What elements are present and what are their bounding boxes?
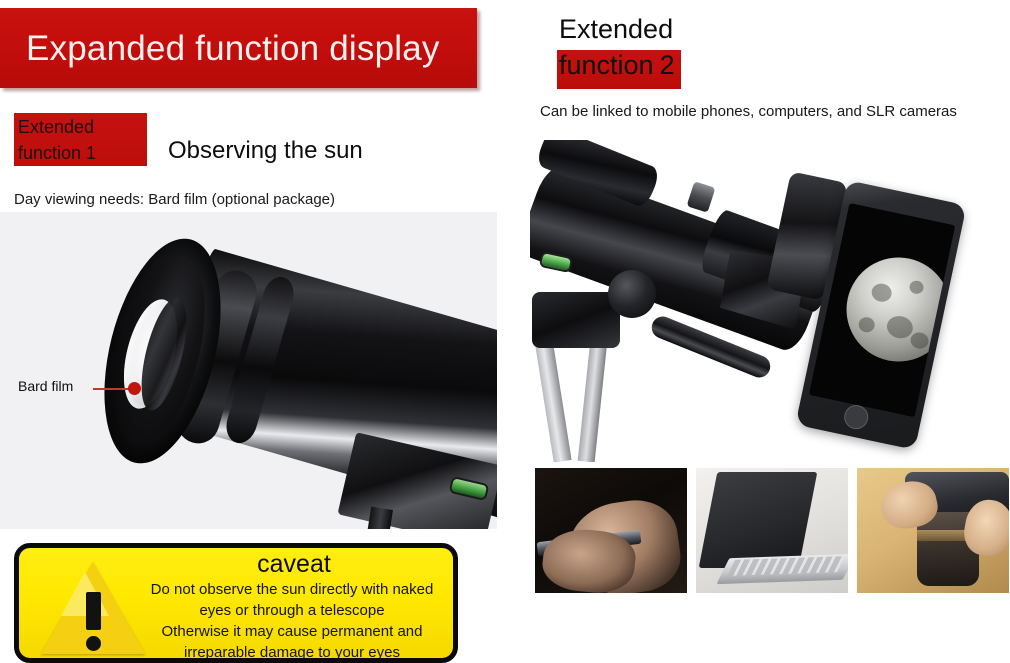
moon-crater xyxy=(857,316,876,334)
linked-devices-caption: Can be linked to mobile phones, computer… xyxy=(540,103,957,120)
page-title: Expanded function display xyxy=(0,31,440,66)
caveat-title: caveat xyxy=(129,550,458,579)
observing-the-sun-heading: Observing the sun xyxy=(168,137,363,165)
thumbnail-mobile-phone xyxy=(535,468,687,593)
title-banner: Expanded function display xyxy=(0,8,477,88)
bard-film-callout-label: Bard film xyxy=(18,378,73,394)
extended-function-2-line1: Extended xyxy=(559,14,673,45)
tripod-leg-left xyxy=(534,337,571,462)
moon-crater xyxy=(870,282,893,304)
tripod-leg-right xyxy=(578,339,608,462)
moon-crater xyxy=(909,331,930,350)
thumbnail-slr-camera xyxy=(857,468,1009,593)
focus-knob-top xyxy=(687,181,716,213)
moon-crater xyxy=(908,279,924,295)
extended-function-2-number: 2 xyxy=(654,50,675,80)
moon-image xyxy=(837,248,955,371)
extended-function-1-badge-label: Extended function 1 xyxy=(18,114,153,166)
extended-function-2-badge: Extended function2 xyxy=(530,8,860,90)
bard-film-callout-line xyxy=(93,388,133,390)
left-column: Expanded function display Extended funct… xyxy=(0,0,505,660)
laptop-screen xyxy=(699,472,818,568)
extended-function-2-word: function xyxy=(559,50,654,80)
bard-film-callout-dot xyxy=(128,382,141,395)
focuser-wheel xyxy=(608,270,656,318)
exclamation-bar-icon xyxy=(86,592,101,630)
telescope-front-lens-photo xyxy=(0,212,497,529)
thumbnail-laptop-computer xyxy=(696,468,848,593)
thumbnail-row xyxy=(535,468,1005,601)
caveat-body-text: Do not observe the sun directly with nak… xyxy=(125,579,458,663)
telescope-phone-adapter-photo xyxy=(530,140,1010,462)
day-viewing-subtext: Day viewing needs: Bard film (optional p… xyxy=(14,191,335,208)
warning-triangle-gloss xyxy=(61,572,109,616)
extended-function-2-line2: function2 xyxy=(559,50,675,81)
tripod-head xyxy=(532,292,620,348)
caveat-box: caveat Do not observe the sun directly w… xyxy=(14,543,458,663)
exclamation-dot-icon xyxy=(86,636,101,651)
